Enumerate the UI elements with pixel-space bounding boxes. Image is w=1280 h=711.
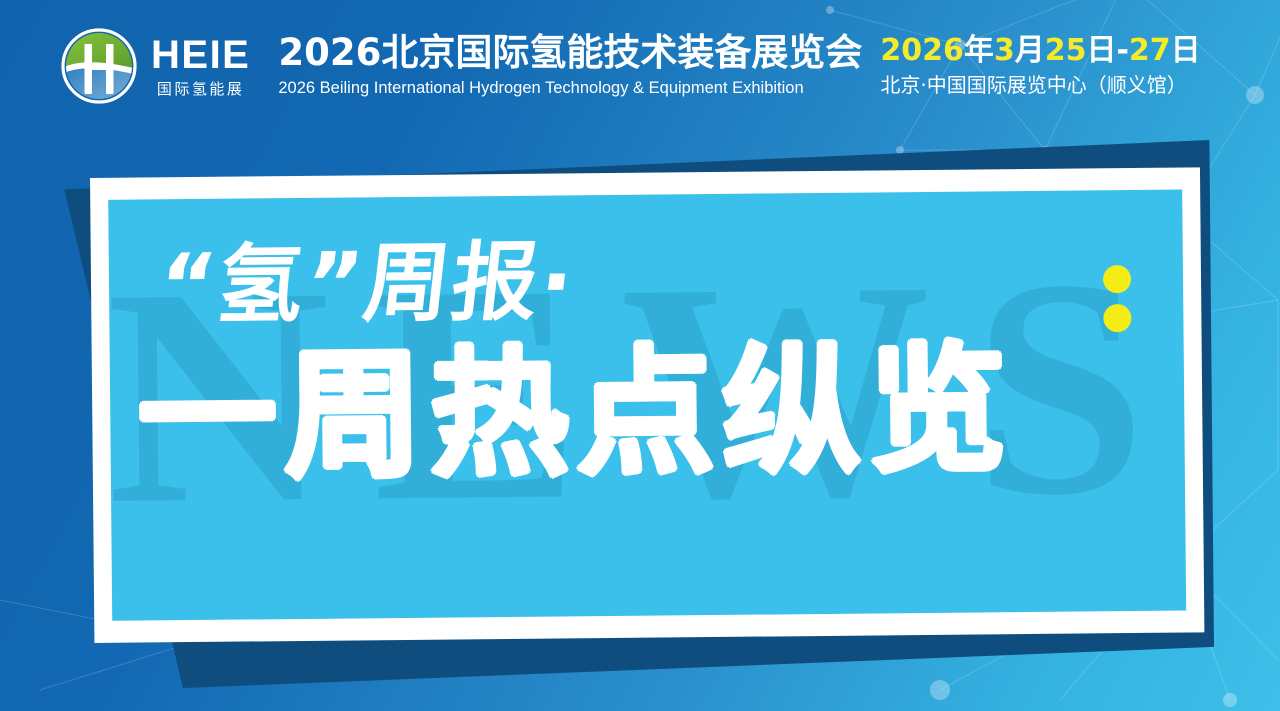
exhibition-header: HEIE 国际氢能展 2026北京国际氢能技术装备展览会 2026 Beilin… [0,0,1280,132]
date-month: 3 [994,33,1015,68]
poster-canvas: HEIE 国际氢能展 2026北京国际氢能技术装备展览会 2026 Beilin… [0,0,1280,711]
date-year: 2026 [880,33,964,68]
date-day-separator: 日- [1086,33,1128,68]
exhibition-venue: 北京·中国国际展览中心（顺义馆） [880,73,1200,97]
brand-logo[interactable]: HEIE 国际氢能展 [60,27,250,105]
exhibition-date: 2026年3月25日-27日 [880,35,1200,67]
brand-wordmark: HEIE 国际氢能展 [151,35,250,97]
headline-line-2: 一周热点纵览 [138,341,1015,487]
card-white-frame: NEWS “氢”周报· 一周热点纵览 [90,167,1204,643]
accent-dots [1103,265,1132,332]
date-day-end: 27 [1129,33,1171,68]
exhibition-title-en: 2026 Beiling International Hydrogen Tech… [278,79,862,99]
brand-abbr: HEIE [151,35,250,75]
date-day-unit: 日 [1171,33,1201,68]
brand-cn-name: 国际氢能展 [157,82,245,97]
date-day-start: 25 [1045,33,1087,68]
headline-stack: “氢”周报· 一周热点纵览 [108,190,1186,621]
date-month-unit: 月 [1015,33,1045,68]
headline-line-1: “氢”周报· [154,239,579,329]
hydrogen-circle-logo-icon [60,27,138,105]
accent-dot-2 [1103,304,1131,332]
date-year-unit: 年 [964,33,994,68]
exhibition-title-cn: 2026北京国际氢能技术装备展览会 [278,34,862,73]
exhibition-meta: 2026年3月25日-27日 北京·中国国际展览中心（顺义馆） [880,35,1200,98]
card-inner-panel: NEWS “氢”周报· 一周热点纵览 [108,190,1186,621]
exhibition-titles: 2026北京国际氢能技术装备展览会 2026 Beiling Internati… [278,34,862,99]
accent-dot-1 [1103,265,1131,293]
